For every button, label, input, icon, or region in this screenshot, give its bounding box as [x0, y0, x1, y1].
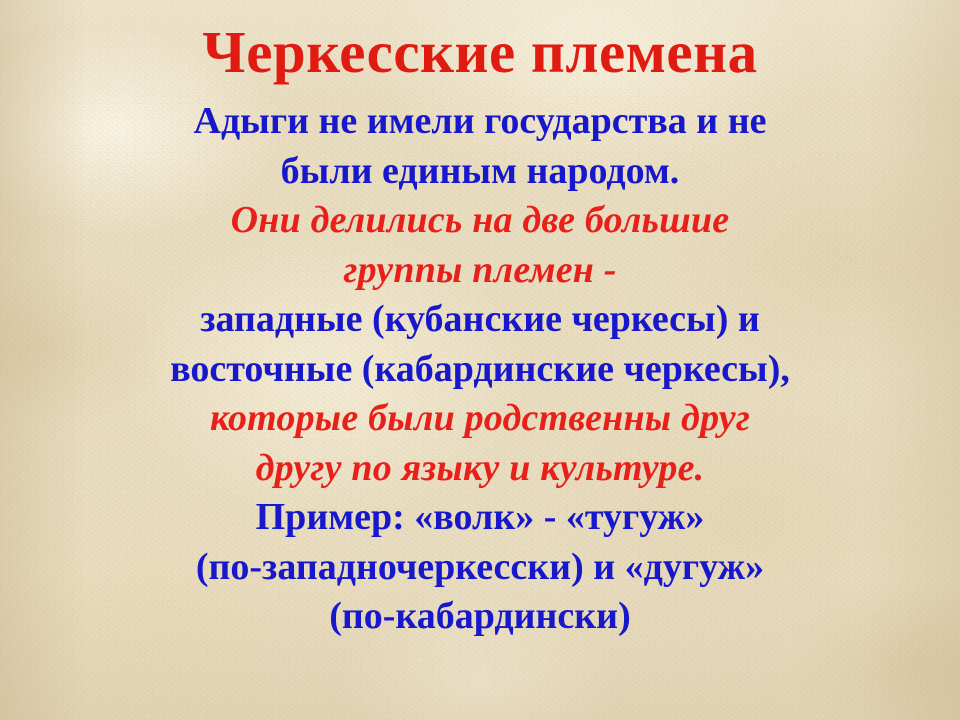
body-line: Адыги не имели государства и не: [0, 97, 960, 147]
body-line: (по-кабардински): [0, 592, 960, 642]
slide-body-text: Адыги не имели государства и небыли един…: [0, 97, 960, 642]
body-line: Они делились на две большие: [0, 196, 960, 246]
body-line: были единым народом.: [0, 147, 960, 197]
body-line: (по-западночеркесски) и «дугуж»: [0, 543, 960, 593]
slide-title: Черкесские племена: [0, 0, 960, 85]
body-line: Пример: «волк» - «тугуж»: [0, 493, 960, 543]
body-line: которые были родственны друг: [0, 394, 960, 444]
presentation-slide: Черкесские племена Адыги не имели госуда…: [0, 0, 960, 720]
body-line: западные (кубанские черкесы) и: [0, 295, 960, 345]
body-line: восточные (кабардинские черкесы),: [0, 345, 960, 395]
body-line: группы племен -: [0, 246, 960, 296]
slide-content: Черкесские племена Адыги не имели госуда…: [0, 0, 960, 720]
body-line: другу по языку и культуре.: [0, 444, 960, 494]
